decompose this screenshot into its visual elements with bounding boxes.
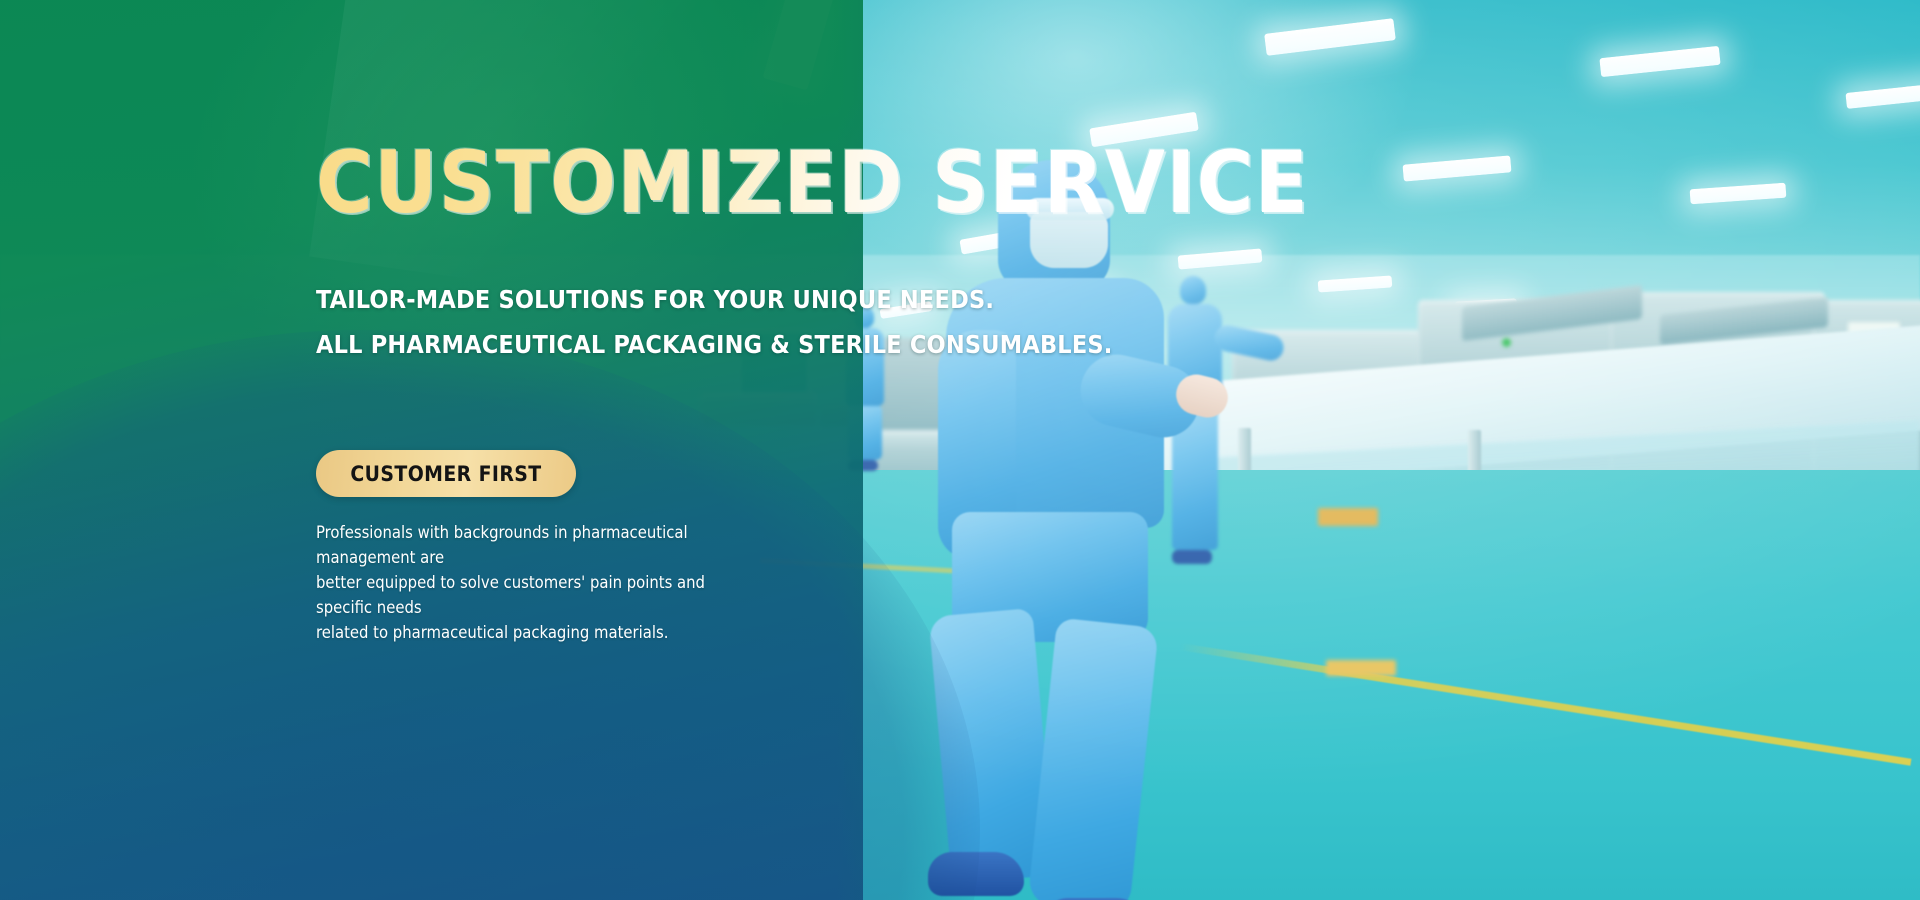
subtitle-line-1: TAILOR-MADE SOLUTIONS FOR YOUR UNIQUE NE… [316,283,1216,318]
body-line-1: Professionals with backgrounds in pharma… [316,520,761,570]
hero-content: CUSTOMIZED SERVICE TAILOR-MADE SOLUTIONS… [316,0,1496,900]
subtitle-line-2: ALL PHARMACEUTICAL PACKAGING & STERILE C… [316,328,1216,363]
customer-first-button[interactable]: CUSTOMER FIRST [316,450,576,497]
page-title: CUSTOMIZED SERVICE [316,140,1309,226]
hero-banner: CUSTOMIZED SERVICE TAILOR-MADE SOLUTIONS… [0,0,1920,900]
body-line-3: related to pharmaceutical packaging mate… [316,620,761,645]
body-copy: Professionals with backgrounds in pharma… [316,520,761,645]
body-line-2: better equipped to solve customers' pain… [316,570,761,620]
